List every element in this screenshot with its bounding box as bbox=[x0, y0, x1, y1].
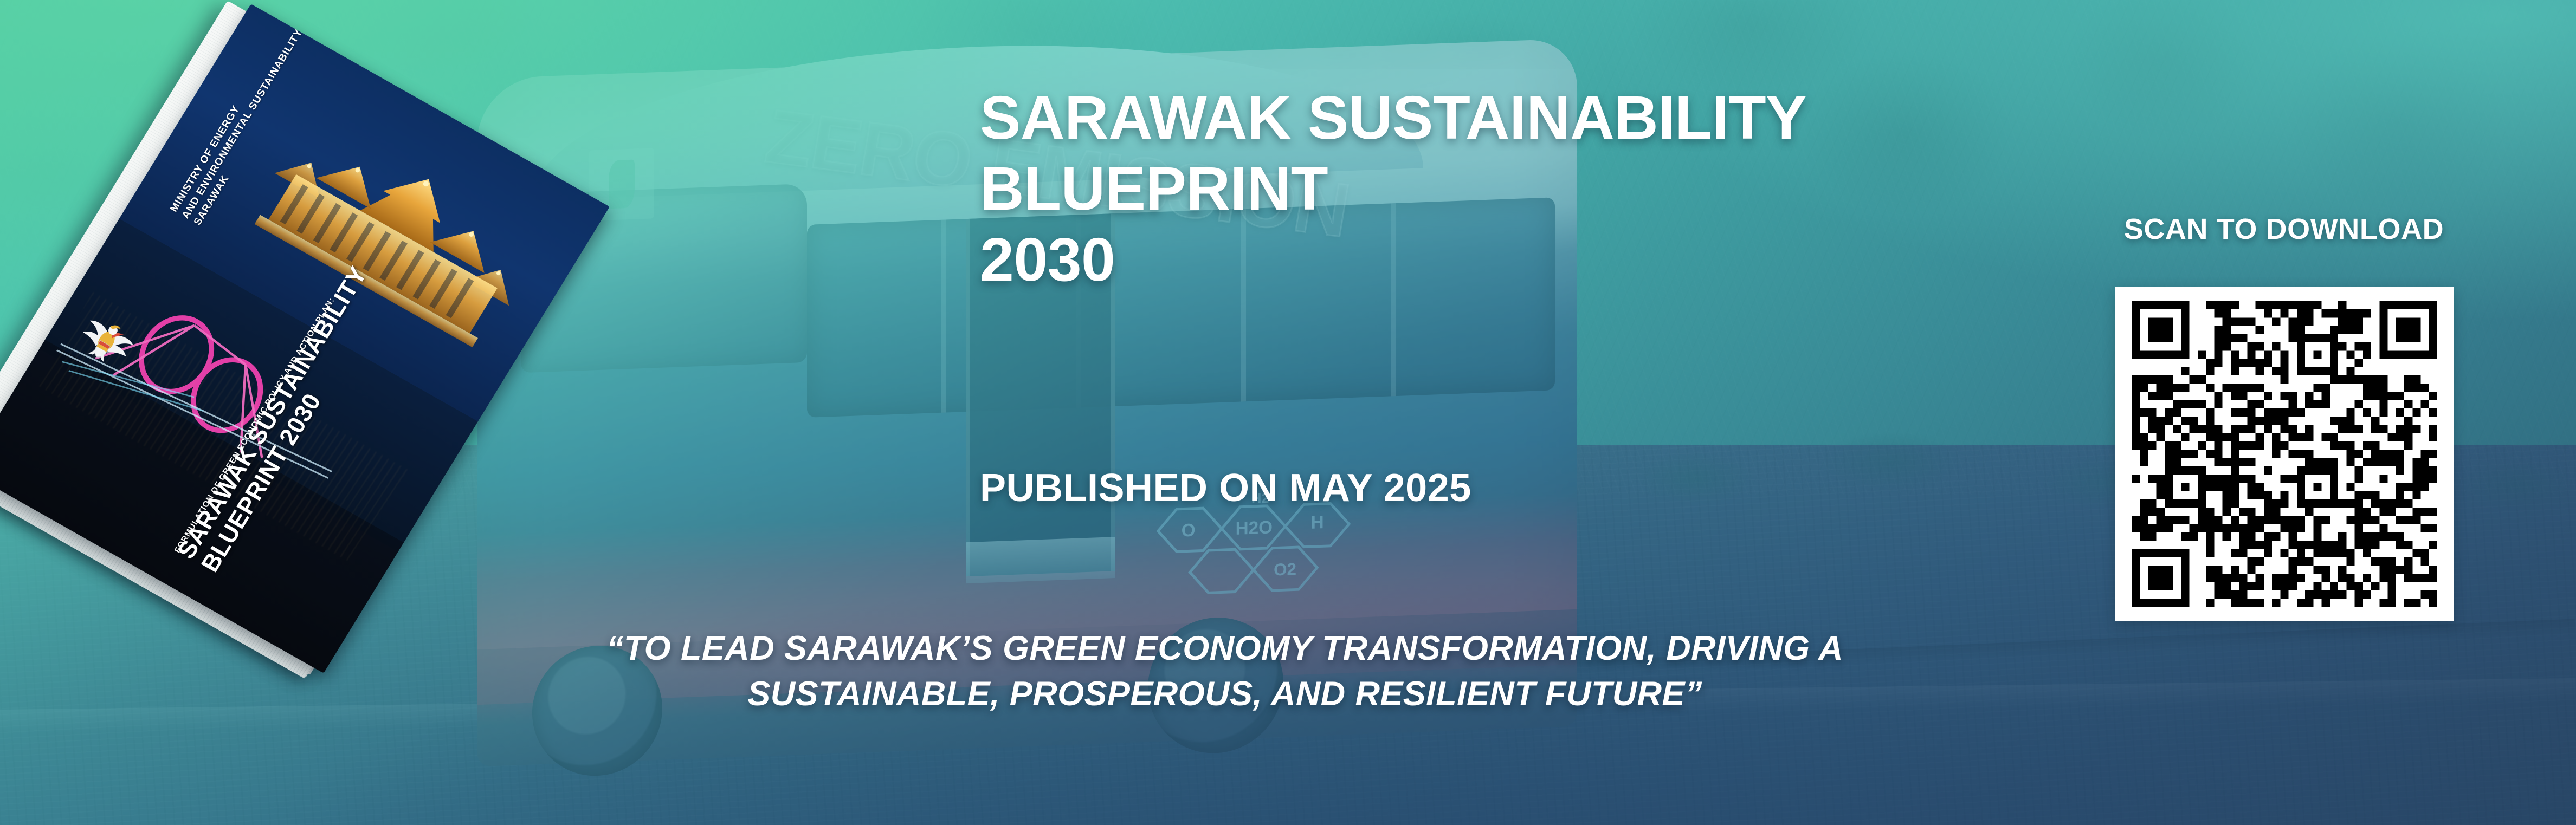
vision-quote: “TO LEAD SARAWAK’S GREEN ECONOMY TRANSFO… bbox=[412, 626, 2038, 717]
vision-quote-line-1: “TO LEAD SARAWAK’S GREEN ECONOMY TRANSFO… bbox=[606, 629, 1843, 667]
book-mockup: MINISTRY OF ENERGY AND ENVIRONMENTAL SUS… bbox=[81, 65, 835, 672]
headline-line-1: SARAWAK SUSTAINABILITY BLUEPRINT bbox=[980, 82, 2118, 224]
qr-code-image[interactable] bbox=[2129, 301, 2439, 607]
headline-line-2: 2030 bbox=[980, 224, 2118, 295]
book-front-cover: MINISTRY OF ENERGY AND ENVIRONMENTAL SUS… bbox=[0, 4, 610, 673]
published-date: PUBLISHED ON MAY 2025 bbox=[980, 466, 1471, 510]
scan-to-download-label: SCAN TO DOWNLOAD bbox=[2094, 212, 2474, 246]
qr-code[interactable] bbox=[2115, 287, 2454, 621]
vision-quote-line-2: SUSTAINABLE, PROSPEROUS, AND RESILIENT F… bbox=[412, 672, 2038, 717]
sarawak-sustainability-blueprint-banner: ZERO EMISSION O H2O H O2 bbox=[0, 0, 2576, 825]
page-title: SARAWAK SUSTAINABILITY BLUEPRINT 2030 bbox=[980, 82, 2118, 295]
